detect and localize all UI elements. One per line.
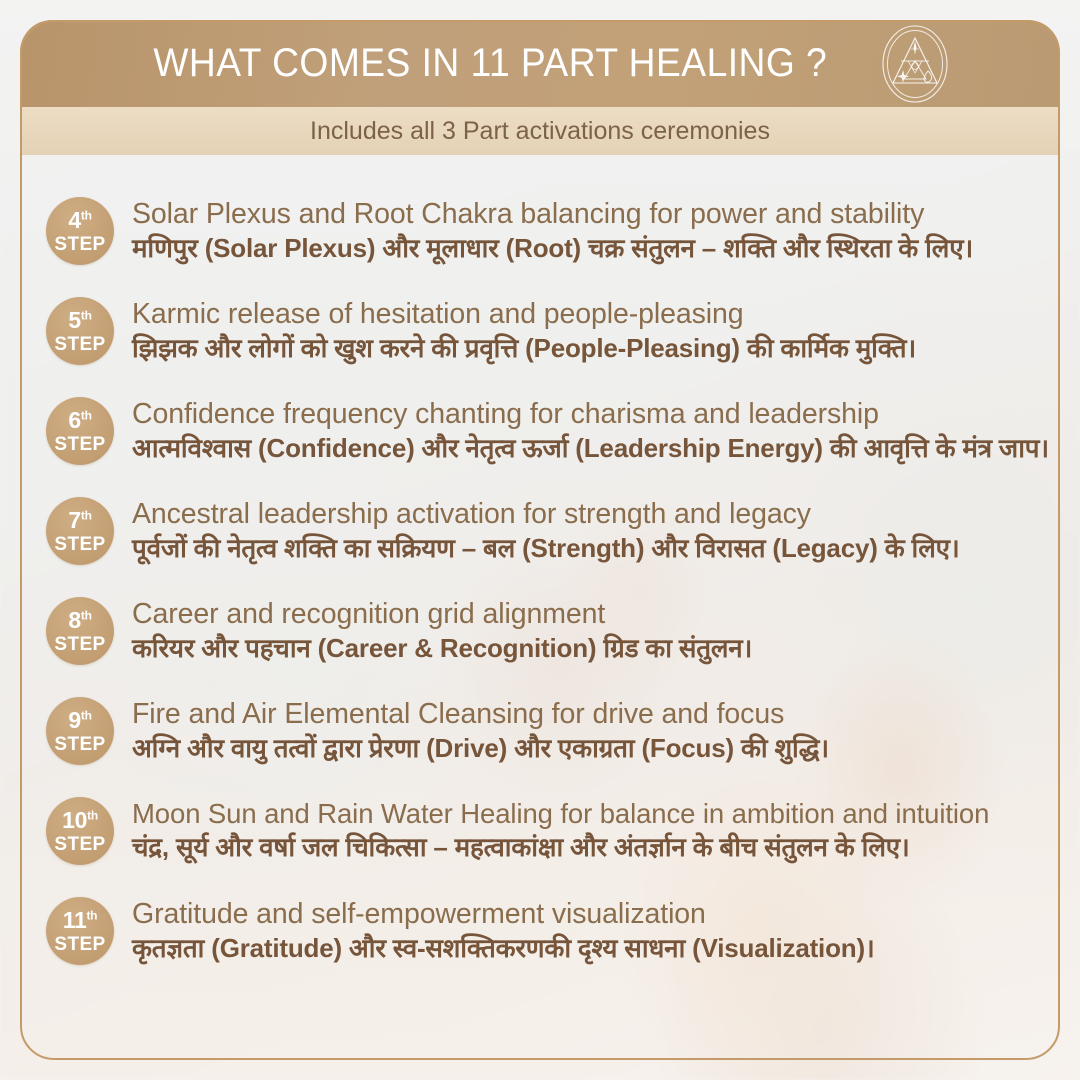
step-badge: 11th STEP xyxy=(46,897,114,965)
step-word: STEP xyxy=(54,235,105,254)
poster-header: WHAT COMES IN 11 PART HEALING ? xyxy=(20,20,1060,107)
step-badge: 4th STEP xyxy=(46,197,114,265)
step-hindi-line: मणिपुर (Solar Plexus) और मूलाधार (Root) … xyxy=(132,233,1032,264)
list-item: 9th STEP Fire and Air Elemental Cleansin… xyxy=(46,681,1032,781)
step-english-line: Ancestral leadership activation for stre… xyxy=(132,498,1032,531)
step-number: 10th xyxy=(62,809,98,832)
steps-list: 4th STEP Solar Plexus and Root Chakra ba… xyxy=(20,165,1060,1058)
step-text: Ancestral leadership activation for stre… xyxy=(132,498,1032,564)
step-english-line: Confidence frequency chanting for charis… xyxy=(132,398,1032,431)
step-hindi-line: अग्नि और वायु तत्वों द्वारा प्रेरणा (Dri… xyxy=(132,733,1032,764)
step-word: STEP xyxy=(54,835,105,854)
step-english-line: Fire and Air Elemental Cleansing for dri… xyxy=(132,698,1032,731)
step-badge: 6th STEP xyxy=(46,397,114,465)
step-number: 8th xyxy=(68,609,91,632)
list-item: 8th STEP Career and recognition grid ali… xyxy=(46,581,1032,681)
step-text: Career and recognition grid alignment कर… xyxy=(132,598,1032,664)
list-item: 10th STEP Moon Sun and Rain Water Healin… xyxy=(46,781,1032,881)
subheader-text: Includes all 3 Part activations ceremoni… xyxy=(310,117,770,146)
list-item: 5th STEP Karmic release of hesitation an… xyxy=(46,281,1032,381)
list-item: 6th STEP Confidence frequency chanting f… xyxy=(46,381,1032,481)
step-text: Gratitude and self-empowerment visualiza… xyxy=(132,898,1032,964)
step-number: 11th xyxy=(63,909,97,932)
step-number: 4th xyxy=(68,209,91,232)
step-word: STEP xyxy=(54,535,105,554)
poster-subheader: Includes all 3 Part activations ceremoni… xyxy=(20,107,1060,155)
step-word: STEP xyxy=(54,935,105,954)
step-word: STEP xyxy=(54,635,105,654)
step-hindi-line: चंद्र, सूर्य और वर्षा जल चिकित्सा – महत्… xyxy=(132,832,1032,863)
step-badge: 5th STEP xyxy=(46,297,114,365)
list-item: 7th STEP Ancestral leadership activation… xyxy=(46,481,1032,581)
step-badge: 9th STEP xyxy=(46,697,114,765)
step-hindi-line: आत्मविश्वास (Confidence) और नेतृत्व ऊर्ज… xyxy=(132,433,1032,464)
step-badge: 8th STEP xyxy=(46,597,114,665)
step-english-line: Solar Plexus and Root Chakra balancing f… xyxy=(132,198,1032,231)
step-badge: 7th STEP xyxy=(46,497,114,565)
step-english-line: Moon Sun and Rain Water Healing for bala… xyxy=(132,798,1032,830)
step-number: 5th xyxy=(68,309,91,332)
page-title: WHAT COMES IN 11 PART HEALING ? xyxy=(153,41,827,86)
step-word: STEP xyxy=(54,435,105,454)
step-text: Moon Sun and Rain Water Healing for bala… xyxy=(132,798,1032,863)
step-hindi-line: झिझक और लोगों को खुश करने की प्रवृत्ति (… xyxy=(132,333,1032,364)
step-hindi-line: करियर और पहचान (Career & Recognition) ग्… xyxy=(132,633,1032,664)
step-english-line: Karmic release of hesitation and people-… xyxy=(132,298,1032,331)
step-hindi-line: कृतज्ञता (Gratitude) और स्व-सशक्तिकरणकी … xyxy=(132,933,1032,964)
step-number: 6th xyxy=(68,409,91,432)
step-word: STEP xyxy=(54,735,105,754)
step-text: Confidence frequency chanting for charis… xyxy=(132,398,1032,464)
step-english-line: Gratitude and self-empowerment visualiza… xyxy=(132,898,1032,931)
step-text: Karmic release of hesitation and people-… xyxy=(132,298,1032,364)
list-item: 4th STEP Solar Plexus and Root Chakra ba… xyxy=(46,181,1032,281)
step-text: Solar Plexus and Root Chakra balancing f… xyxy=(132,198,1032,264)
step-text: Fire and Air Elemental Cleansing for dri… xyxy=(132,698,1032,764)
step-badge: 10th STEP xyxy=(46,797,114,865)
step-number: 7th xyxy=(68,509,91,532)
sacred-geometry-triangle-circle-logo xyxy=(878,23,952,105)
list-item: 11th STEP Gratitude and self-empowerment… xyxy=(46,881,1032,981)
step-english-line: Career and recognition grid alignment xyxy=(132,598,1032,631)
step-number: 9th xyxy=(68,709,91,732)
healing-package-poster: WHAT COMES IN 11 PART HEALING ? Includes… xyxy=(0,0,1080,1080)
step-hindi-line: पूर्वजों की नेतृत्व शक्ति का सक्रियण – ब… xyxy=(132,533,1032,564)
step-word: STEP xyxy=(54,335,105,354)
